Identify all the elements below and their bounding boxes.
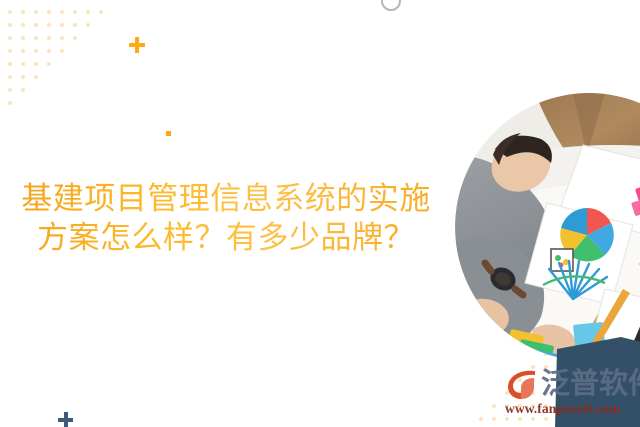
decorative-dot [21,88,25,92]
promo-banner: 基建项目管理信息系统的实施 方案怎么样？有多少品牌？ 泛普软件 www.fanp… [0,0,640,427]
decorative-dot [86,23,90,27]
decorative-dot [60,36,64,40]
decorative-dot [8,10,12,14]
square-dot-accent-icon [166,131,171,136]
decorative-dot [86,10,90,14]
decorative-dot [8,88,12,92]
decorative-dot [21,49,25,53]
decorative-dot [34,62,38,66]
fanpu-swoosh-logo-icon [505,367,539,401]
decorative-dot [47,10,51,14]
dot-grid-top-left [8,10,128,106]
decorative-dot [8,36,12,40]
decorative-dot [479,417,483,421]
decorative-dot [73,10,77,14]
brand-url: www.fanpusoft.com [505,401,637,417]
decorative-dot [492,404,496,408]
decorative-dot [60,23,64,27]
decorative-dot [492,417,496,421]
decorative-dot [21,36,25,40]
plus-mark-bottom-icon [58,412,73,427]
decorative-dot [47,62,51,66]
ring-outline-top-icon [381,0,401,11]
decorative-dot [8,23,12,27]
decorative-dot [47,36,51,40]
decorative-dot [21,23,25,27]
decorative-dot [73,36,77,40]
brand-logo-row: 泛普软件 [505,366,637,402]
decorative-dot [99,10,103,14]
decorative-dot [34,75,38,79]
decorative-dot [21,10,25,14]
decorative-dot [34,10,38,14]
decorative-dot [8,49,12,53]
decorative-dot [34,49,38,53]
team-meeting-with-charts-photo [455,93,640,361]
decorative-dot [47,49,51,53]
decorative-dot [8,62,12,66]
brand-name: 泛普软件 [541,367,640,401]
decorative-dot [8,101,12,105]
decorative-dot [34,36,38,40]
decorative-dot [8,75,12,79]
decorative-dot [21,75,25,79]
decorative-dot [47,23,51,27]
decorative-dot [60,49,64,53]
page-title: 基建项目管理信息系统的实施 方案怎么样？有多少品牌？ [0,179,452,258]
plus-mark-top-icon [129,37,145,53]
decorative-dot [60,10,64,14]
decorative-dot [34,23,38,27]
decorative-dot [73,23,77,27]
decorative-dot [21,62,25,66]
brand-watermark: 泛普软件 www.fanpusoft.com [505,366,637,422]
